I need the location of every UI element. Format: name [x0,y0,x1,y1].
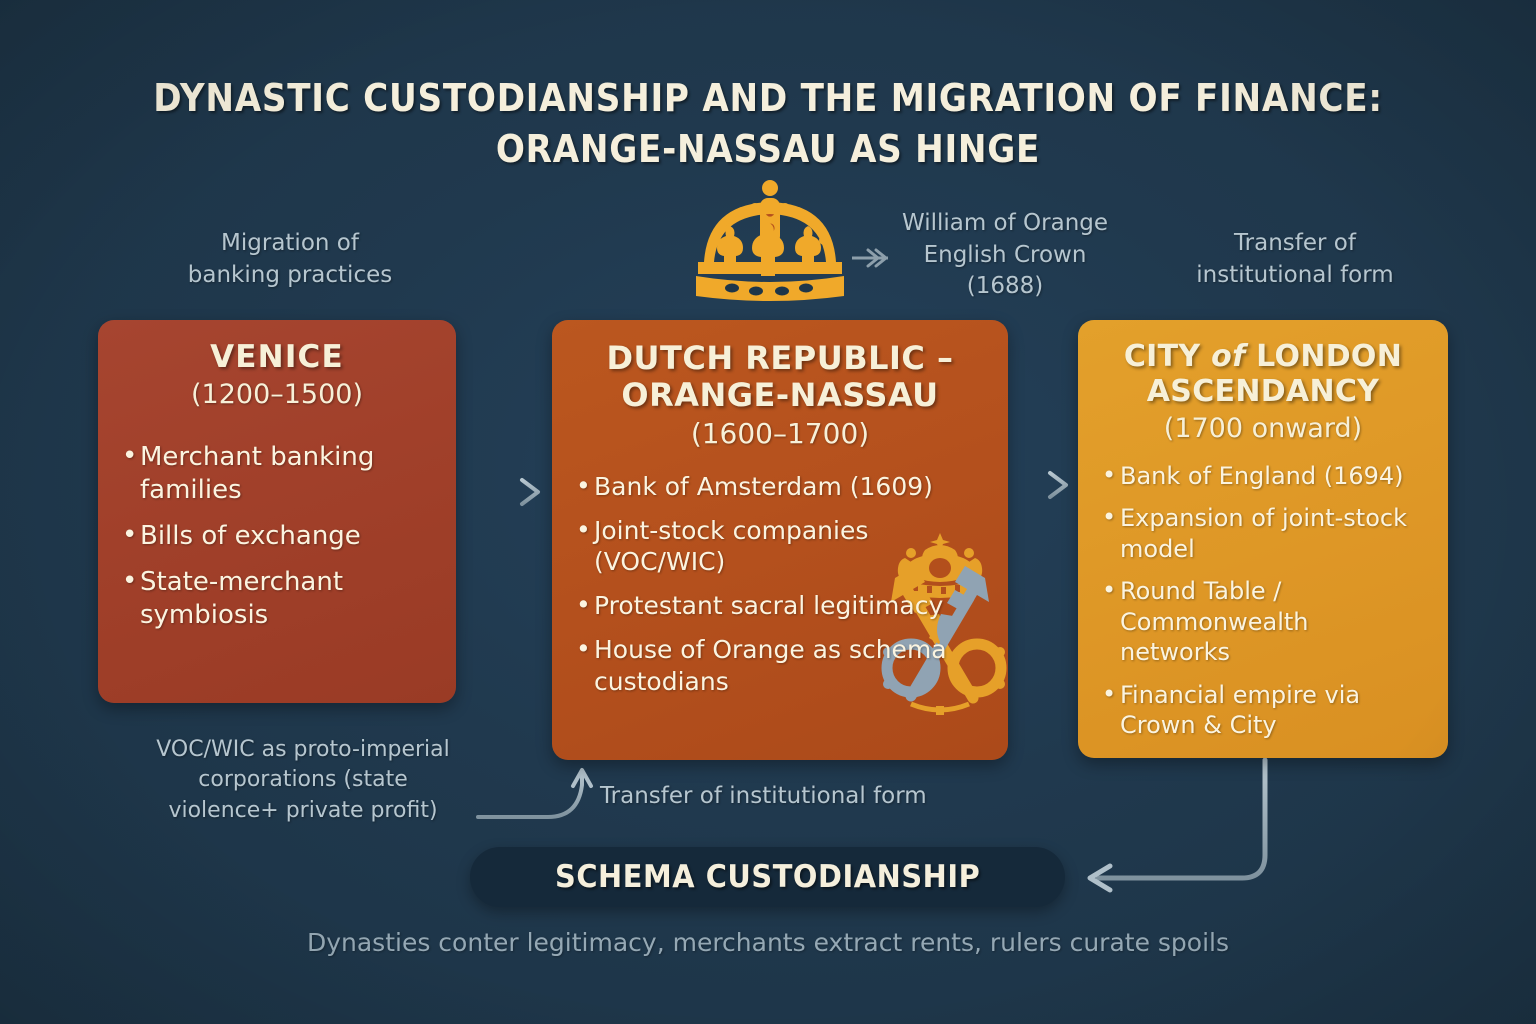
card-venice[interactable]: VENICE (1200–1500) Merchant banking fami… [98,320,456,703]
infographic-canvas: DYNASTIC CUSTODIANSHIP AND THE MIGRATION… [0,0,1536,1024]
list-item: Expansion of joint-stock model [1100,503,1426,564]
list-item: Round Table / Commonwealth networks [1100,576,1426,667]
label-transfer-of-institutional-form-right: Transfer ofinstitutional form [1150,228,1440,291]
list-item: House of Orange as schema custodians [574,634,986,698]
label-migration-of-banking-practices: Migration ofbanking practices [140,228,440,291]
list-item: Protestant sacral legitimacy [574,590,986,622]
label-voc-wic-note: VOC/WIC as proto-imperialcorporations (s… [118,735,488,826]
card-city-of-london[interactable]: CITY of LONDON ASCENDANCY (1700 onward) … [1078,320,1448,758]
card-dutch-republic[interactable]: DUTCH REPUBLIC – ORANGE-NASSAU (1600–170… [552,320,1008,760]
card-venice-title: VENICE [120,340,434,376]
title-line-2: ORANGE-NASSAU AS HINGE [77,124,1459,174]
label-william-of-orange: William of OrangeEnglish Crown(1688) [880,208,1130,303]
title-line-1: DYNASTIC CUSTODIANSHIP AND THE MIGRATION… [153,76,1382,120]
card-london-bullets: Bank of England (1694) Expansion of join… [1100,461,1426,741]
list-item: Financial empire via Crown & City [1100,680,1426,741]
card-london-title: CITY of LONDON ASCENDANCY [1100,340,1426,410]
list-item: Merchant banking families [120,441,434,507]
arrow-dutch-to-london [1010,473,1066,497]
card-dutch-bullets: Bank of Amsterdam (1609) Joint-stock com… [574,471,986,698]
card-dutch-subtitle: (1600–1700) [574,417,986,451]
list-item: Joint-stock companies (VOC/WIC) [574,515,986,579]
card-london-subtitle: (1700 onward) [1100,413,1426,445]
list-item: Bank of Amsterdam (1609) [574,471,986,503]
card-dutch-title-line-2: ORANGE-NASSAU [621,376,938,414]
card-dutch-title: DUTCH REPUBLIC – ORANGE-NASSAU [574,340,986,414]
list-item: State-merchant symbiosis [120,566,434,632]
list-item: Bank of England (1694) [1100,461,1426,491]
arrow-venice-to-dutch [458,480,538,504]
card-london-title-london: LONDON [1245,339,1402,374]
card-dutch-title-line-1: DUTCH REPUBLIC – [606,339,953,377]
card-venice-bullets: Merchant banking families Bills of excha… [120,441,434,632]
arrow-london-to-pill [1090,760,1265,890]
schema-custodianship-label: SCHEMA CUSTODIANSHIP [555,859,980,895]
card-london-title-city: CITY [1124,339,1211,374]
card-london-title-line-2: ASCENDANCY [1147,374,1379,409]
crown-icon [686,178,854,304]
footer-caption: Dynasties conter legitimacy, merchants e… [0,928,1536,957]
list-item: Bills of exchange [120,520,434,553]
card-venice-subtitle: (1200–1500) [120,379,434,411]
card-london-title-of: of [1211,339,1245,374]
schema-custodianship-pill[interactable]: SCHEMA CUSTODIANSHIP [470,847,1065,907]
page-title: DYNASTIC CUSTODIANSHIP AND THE MIGRATION… [77,73,1459,173]
arrow-voc-to-dutch [478,770,591,817]
label-transfer-of-institutional-form-bottom: Transfer of institutional form [600,781,1030,813]
